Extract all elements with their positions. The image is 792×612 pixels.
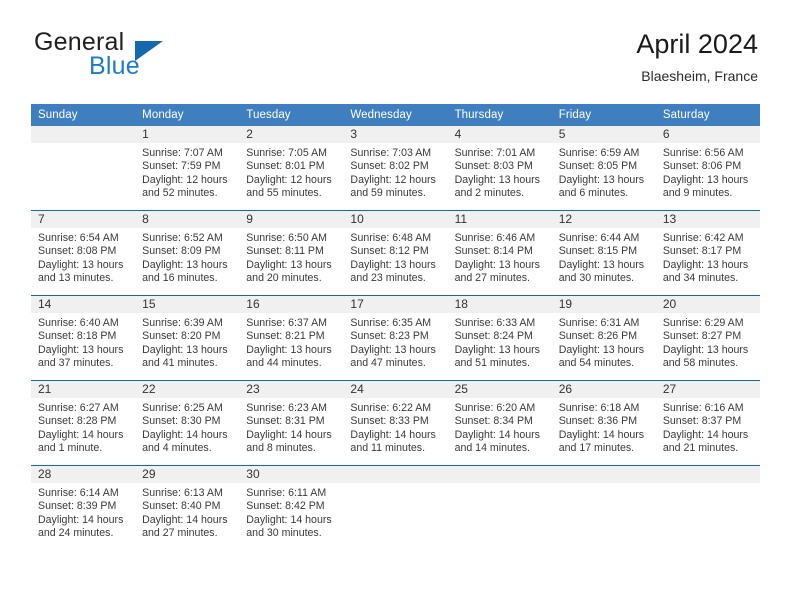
detail-sunrise: Sunrise: 6:56 AM [663, 147, 753, 160]
day-details: Sunrise: 6:39 AMSunset: 8:20 PMDaylight:… [135, 313, 239, 371]
detail-daylight-line2: and 27 minutes. [142, 527, 232, 540]
day-number: 7 [31, 211, 135, 228]
day-cell[interactable]: 4Sunrise: 7:01 AMSunset: 8:03 PMDaylight… [448, 126, 552, 211]
detail-daylight-line1: Daylight: 13 hours [455, 174, 545, 187]
day-number: 3 [343, 126, 447, 143]
detail-daylight-line1: Daylight: 13 hours [455, 344, 545, 357]
detail-daylight-line2: and 14 minutes. [455, 442, 545, 455]
detail-daylight-line1: Daylight: 13 hours [559, 344, 649, 357]
day-cell-empty [343, 466, 447, 551]
day-cell[interactable]: 9Sunrise: 6:50 AMSunset: 8:11 PMDaylight… [239, 211, 343, 296]
detail-daylight-line1: Daylight: 14 hours [38, 429, 128, 442]
day-cell[interactable]: 26Sunrise: 6:18 AMSunset: 8:36 PMDayligh… [552, 381, 656, 466]
weekday-header-tuesday: Tuesday [239, 104, 343, 126]
day-number: 29 [135, 466, 239, 483]
day-details: Sunrise: 6:11 AMSunset: 8:42 PMDaylight:… [239, 483, 343, 541]
detail-sunset: Sunset: 8:36 PM [559, 415, 649, 428]
detail-sunrise: Sunrise: 7:03 AM [350, 147, 440, 160]
detail-daylight-line1: Daylight: 13 hours [663, 174, 753, 187]
day-details: Sunrise: 6:27 AMSunset: 8:28 PMDaylight:… [31, 398, 135, 456]
detail-daylight-line2: and 20 minutes. [246, 272, 336, 285]
day-details: Sunrise: 6:29 AMSunset: 8:27 PMDaylight:… [656, 313, 760, 371]
calendar-body: 1Sunrise: 7:07 AMSunset: 7:59 PMDaylight… [31, 126, 760, 550]
day-cell[interactable]: 5Sunrise: 6:59 AMSunset: 8:05 PMDaylight… [552, 126, 656, 211]
day-cell[interactable]: 15Sunrise: 6:39 AMSunset: 8:20 PMDayligh… [135, 296, 239, 381]
detail-daylight-line1: Daylight: 14 hours [350, 429, 440, 442]
day-number [343, 466, 447, 483]
detail-daylight-line1: Daylight: 13 hours [38, 344, 128, 357]
day-details: Sunrise: 6:54 AMSunset: 8:08 PMDaylight:… [31, 228, 135, 286]
weekday-header-wednesday: Wednesday [343, 104, 447, 126]
day-details: Sunrise: 6:13 AMSunset: 8:40 PMDaylight:… [135, 483, 239, 541]
detail-sunrise: Sunrise: 6:14 AM [38, 487, 128, 500]
day-cell[interactable]: 12Sunrise: 6:44 AMSunset: 8:15 PMDayligh… [552, 211, 656, 296]
day-cell[interactable]: 13Sunrise: 6:42 AMSunset: 8:17 PMDayligh… [656, 211, 760, 296]
masthead: General Blue April 2024 Blaesheim, Franc… [34, 28, 758, 90]
detail-daylight-line2: and 21 minutes. [663, 442, 753, 455]
detail-daylight-line1: Daylight: 14 hours [455, 429, 545, 442]
day-cell[interactable]: 3Sunrise: 7:03 AMSunset: 8:02 PMDaylight… [343, 126, 447, 211]
day-number: 12 [552, 211, 656, 228]
detail-daylight-line1: Daylight: 13 hours [350, 259, 440, 272]
day-number: 16 [239, 296, 343, 313]
detail-daylight-line2: and 6 minutes. [559, 187, 649, 200]
day-number [656, 466, 760, 483]
detail-sunrise: Sunrise: 6:11 AM [246, 487, 336, 500]
detail-sunset: Sunset: 8:11 PM [246, 245, 336, 258]
detail-sunrise: Sunrise: 7:01 AM [455, 147, 545, 160]
weekday-header-friday: Friday [552, 104, 656, 126]
day-number: 19 [552, 296, 656, 313]
day-details: Sunrise: 6:22 AMSunset: 8:33 PMDaylight:… [343, 398, 447, 456]
detail-daylight-line1: Daylight: 14 hours [246, 514, 336, 527]
day-number [31, 126, 135, 143]
day-number: 27 [656, 381, 760, 398]
week-row: 28Sunrise: 6:14 AMSunset: 8:39 PMDayligh… [31, 466, 760, 551]
detail-daylight-line1: Daylight: 14 hours [663, 429, 753, 442]
day-cell[interactable]: 28Sunrise: 6:14 AMSunset: 8:39 PMDayligh… [31, 466, 135, 551]
day-number: 17 [343, 296, 447, 313]
calendar-table: Sunday Monday Tuesday Wednesday Thursday… [31, 104, 760, 550]
detail-daylight-line2: and 58 minutes. [663, 357, 753, 370]
weekday-header-thursday: Thursday [448, 104, 552, 126]
detail-sunset: Sunset: 8:42 PM [246, 500, 336, 513]
detail-sunrise: Sunrise: 6:48 AM [350, 232, 440, 245]
detail-sunset: Sunset: 8:03 PM [455, 160, 545, 173]
day-number: 11 [448, 211, 552, 228]
day-cell[interactable]: 27Sunrise: 6:16 AMSunset: 8:37 PMDayligh… [656, 381, 760, 466]
detail-daylight-line2: and 30 minutes. [246, 527, 336, 540]
weekday-header-saturday: Saturday [656, 104, 760, 126]
detail-daylight-line2: and 30 minutes. [559, 272, 649, 285]
detail-sunset: Sunset: 8:40 PM [142, 500, 232, 513]
day-details: Sunrise: 6:31 AMSunset: 8:26 PMDaylight:… [552, 313, 656, 371]
day-cell[interactable]: 14Sunrise: 6:40 AMSunset: 8:18 PMDayligh… [31, 296, 135, 381]
detail-sunrise: Sunrise: 6:25 AM [142, 402, 232, 415]
detail-daylight-line1: Daylight: 13 hours [246, 259, 336, 272]
day-number: 25 [448, 381, 552, 398]
detail-daylight-line1: Daylight: 14 hours [142, 514, 232, 527]
detail-sunset: Sunset: 8:06 PM [663, 160, 753, 173]
detail-daylight-line2: and 52 minutes. [142, 187, 232, 200]
detail-sunset: Sunset: 8:28 PM [38, 415, 128, 428]
detail-sunrise: Sunrise: 7:07 AM [142, 147, 232, 160]
detail-sunrise: Sunrise: 6:44 AM [559, 232, 649, 245]
page-subtitle: Blaesheim, France [636, 66, 758, 86]
detail-daylight-line1: Daylight: 13 hours [38, 259, 128, 272]
day-details: Sunrise: 7:01 AMSunset: 8:03 PMDaylight:… [448, 143, 552, 201]
detail-daylight-line1: Daylight: 13 hours [350, 344, 440, 357]
detail-daylight-line1: Daylight: 13 hours [559, 259, 649, 272]
brand-logo[interactable]: General Blue [34, 28, 264, 86]
day-number: 8 [135, 211, 239, 228]
detail-sunrise: Sunrise: 6:42 AM [663, 232, 753, 245]
detail-daylight-line1: Daylight: 13 hours [559, 174, 649, 187]
day-cell[interactable]: 16Sunrise: 6:37 AMSunset: 8:21 PMDayligh… [239, 296, 343, 381]
detail-daylight-line2: and 24 minutes. [38, 527, 128, 540]
day-cell[interactable]: 10Sunrise: 6:48 AMSunset: 8:12 PMDayligh… [343, 211, 447, 296]
detail-daylight-line1: Daylight: 14 hours [559, 429, 649, 442]
detail-daylight-line1: Daylight: 12 hours [246, 174, 336, 187]
detail-sunrise: Sunrise: 6:22 AM [350, 402, 440, 415]
detail-sunrise: Sunrise: 6:39 AM [142, 317, 232, 330]
day-number: 10 [343, 211, 447, 228]
detail-sunrise: Sunrise: 6:46 AM [455, 232, 545, 245]
day-cell[interactable]: 1Sunrise: 7:07 AMSunset: 7:59 PMDaylight… [135, 126, 239, 211]
calendar-header-row: Sunday Monday Tuesday Wednesday Thursday… [31, 104, 760, 126]
detail-daylight-line2: and 41 minutes. [142, 357, 232, 370]
detail-daylight-line2: and 16 minutes. [142, 272, 232, 285]
detail-sunset: Sunset: 8:30 PM [142, 415, 232, 428]
detail-daylight-line1: Daylight: 13 hours [663, 259, 753, 272]
day-number: 2 [239, 126, 343, 143]
detail-sunrise: Sunrise: 6:20 AM [455, 402, 545, 415]
detail-daylight-line2: and 8 minutes. [246, 442, 336, 455]
detail-sunset: Sunset: 8:37 PM [663, 415, 753, 428]
week-row: 1Sunrise: 7:07 AMSunset: 7:59 PMDaylight… [31, 126, 760, 211]
detail-sunrise: Sunrise: 6:35 AM [350, 317, 440, 330]
day-cell-empty [552, 466, 656, 551]
day-cell[interactable]: 7Sunrise: 6:54 AMSunset: 8:08 PMDaylight… [31, 211, 135, 296]
detail-sunrise: Sunrise: 6:13 AM [142, 487, 232, 500]
detail-sunset: Sunset: 8:12 PM [350, 245, 440, 258]
day-details: Sunrise: 6:40 AMSunset: 8:18 PMDaylight:… [31, 313, 135, 371]
detail-daylight-line2: and 37 minutes. [38, 357, 128, 370]
day-details: Sunrise: 6:35 AMSunset: 8:23 PMDaylight:… [343, 313, 447, 371]
detail-daylight-line2: and 4 minutes. [142, 442, 232, 455]
detail-daylight-line1: Daylight: 14 hours [38, 514, 128, 527]
weekday-header-monday: Monday [135, 104, 239, 126]
day-number: 24 [343, 381, 447, 398]
detail-sunrise: Sunrise: 6:50 AM [246, 232, 336, 245]
day-details: Sunrise: 6:56 AMSunset: 8:06 PMDaylight:… [656, 143, 760, 201]
title-block: April 2024 Blaesheim, France [636, 28, 758, 86]
day-details: Sunrise: 6:50 AMSunset: 8:11 PMDaylight:… [239, 228, 343, 286]
week-row: 14Sunrise: 6:40 AMSunset: 8:18 PMDayligh… [31, 296, 760, 381]
day-number [448, 466, 552, 483]
day-details: Sunrise: 6:42 AMSunset: 8:17 PMDaylight:… [656, 228, 760, 286]
day-cell[interactable]: 24Sunrise: 6:22 AMSunset: 8:33 PMDayligh… [343, 381, 447, 466]
detail-sunset: Sunset: 8:39 PM [38, 500, 128, 513]
day-details: Sunrise: 7:07 AMSunset: 7:59 PMDaylight:… [135, 143, 239, 201]
day-number: 14 [31, 296, 135, 313]
day-cell[interactable]: 17Sunrise: 6:35 AMSunset: 8:23 PMDayligh… [343, 296, 447, 381]
detail-daylight-line2: and 55 minutes. [246, 187, 336, 200]
day-cell[interactable]: 25Sunrise: 6:20 AMSunset: 8:34 PMDayligh… [448, 381, 552, 466]
day-details: Sunrise: 7:03 AMSunset: 8:02 PMDaylight:… [343, 143, 447, 201]
detail-sunrise: Sunrise: 6:40 AM [38, 317, 128, 330]
day-number: 22 [135, 381, 239, 398]
day-cell[interactable]: 18Sunrise: 6:33 AMSunset: 8:24 PMDayligh… [448, 296, 552, 381]
day-number: 21 [31, 381, 135, 398]
detail-sunset: Sunset: 8:09 PM [142, 245, 232, 258]
day-cell[interactable]: 23Sunrise: 6:23 AMSunset: 8:31 PMDayligh… [239, 381, 343, 466]
day-number [552, 466, 656, 483]
detail-sunrise: Sunrise: 6:54 AM [38, 232, 128, 245]
detail-sunset: Sunset: 8:14 PM [455, 245, 545, 258]
detail-sunset: Sunset: 7:59 PM [142, 160, 232, 173]
day-number: 28 [31, 466, 135, 483]
detail-daylight-line1: Daylight: 13 hours [663, 344, 753, 357]
detail-sunset: Sunset: 8:26 PM [559, 330, 649, 343]
day-details: Sunrise: 6:59 AMSunset: 8:05 PMDaylight:… [552, 143, 656, 201]
detail-sunset: Sunset: 8:17 PM [663, 245, 753, 258]
day-number: 4 [448, 126, 552, 143]
day-number: 26 [552, 381, 656, 398]
detail-daylight-line2: and 34 minutes. [663, 272, 753, 285]
day-cell[interactable]: 11Sunrise: 6:46 AMSunset: 8:14 PMDayligh… [448, 211, 552, 296]
day-details: Sunrise: 6:16 AMSunset: 8:37 PMDaylight:… [656, 398, 760, 456]
detail-sunset: Sunset: 8:01 PM [246, 160, 336, 173]
detail-sunrise: Sunrise: 6:27 AM [38, 402, 128, 415]
detail-daylight-line1: Daylight: 14 hours [142, 429, 232, 442]
detail-sunset: Sunset: 8:15 PM [559, 245, 649, 258]
day-details: Sunrise: 7:05 AMSunset: 8:01 PMDaylight:… [239, 143, 343, 201]
day-number: 30 [239, 466, 343, 483]
day-details: Sunrise: 6:52 AMSunset: 8:09 PMDaylight:… [135, 228, 239, 286]
day-cell-empty [656, 466, 760, 551]
day-cell[interactable]: 20Sunrise: 6:29 AMSunset: 8:27 PMDayligh… [656, 296, 760, 381]
detail-sunrise: Sunrise: 6:52 AM [142, 232, 232, 245]
day-cell[interactable]: 22Sunrise: 6:25 AMSunset: 8:30 PMDayligh… [135, 381, 239, 466]
detail-sunrise: Sunrise: 6:23 AM [246, 402, 336, 415]
detail-sunset: Sunset: 8:31 PM [246, 415, 336, 428]
week-row: 7Sunrise: 6:54 AMSunset: 8:08 PMDaylight… [31, 211, 760, 296]
detail-sunset: Sunset: 8:02 PM [350, 160, 440, 173]
day-cell[interactable]: 19Sunrise: 6:31 AMSunset: 8:26 PMDayligh… [552, 296, 656, 381]
day-cell-empty [31, 126, 135, 211]
detail-daylight-line2: and 59 minutes. [350, 187, 440, 200]
day-number: 9 [239, 211, 343, 228]
detail-daylight-line2: and 47 minutes. [350, 357, 440, 370]
detail-sunset: Sunset: 8:33 PM [350, 415, 440, 428]
day-number: 6 [656, 126, 760, 143]
detail-daylight-line1: Daylight: 14 hours [246, 429, 336, 442]
detail-sunset: Sunset: 8:24 PM [455, 330, 545, 343]
detail-daylight-line2: and 27 minutes. [455, 272, 545, 285]
detail-daylight-line2: and 9 minutes. [663, 187, 753, 200]
detail-daylight-line1: Daylight: 12 hours [350, 174, 440, 187]
detail-sunset: Sunset: 8:20 PM [142, 330, 232, 343]
detail-daylight-line1: Daylight: 13 hours [246, 344, 336, 357]
day-number: 1 [135, 126, 239, 143]
weekday-header-sunday: Sunday [31, 104, 135, 126]
detail-daylight-line2: and 13 minutes. [38, 272, 128, 285]
detail-sunrise: Sunrise: 6:37 AM [246, 317, 336, 330]
day-details: Sunrise: 6:20 AMSunset: 8:34 PMDaylight:… [448, 398, 552, 456]
day-cell[interactable]: 6Sunrise: 6:56 AMSunset: 8:06 PMDaylight… [656, 126, 760, 211]
detail-daylight-line2: and 44 minutes. [246, 357, 336, 370]
day-details: Sunrise: 6:18 AMSunset: 8:36 PMDaylight:… [552, 398, 656, 456]
day-cell-empty [448, 466, 552, 551]
detail-sunset: Sunset: 8:08 PM [38, 245, 128, 258]
day-cell[interactable]: 30Sunrise: 6:11 AMSunset: 8:42 PMDayligh… [239, 466, 343, 551]
day-details: Sunrise: 6:33 AMSunset: 8:24 PMDaylight:… [448, 313, 552, 371]
detail-sunrise: Sunrise: 6:33 AM [455, 317, 545, 330]
day-number: 15 [135, 296, 239, 313]
detail-sunset: Sunset: 8:34 PM [455, 415, 545, 428]
day-number: 5 [552, 126, 656, 143]
day-details: Sunrise: 6:48 AMSunset: 8:12 PMDaylight:… [343, 228, 447, 286]
day-cell[interactable]: 21Sunrise: 6:27 AMSunset: 8:28 PMDayligh… [31, 381, 135, 466]
page-title: April 2024 [636, 28, 758, 60]
day-cell[interactable]: 8Sunrise: 6:52 AMSunset: 8:09 PMDaylight… [135, 211, 239, 296]
detail-sunrise: Sunrise: 6:16 AM [663, 402, 753, 415]
detail-sunset: Sunset: 8:23 PM [350, 330, 440, 343]
detail-daylight-line2: and 54 minutes. [559, 357, 649, 370]
detail-daylight-line1: Daylight: 13 hours [142, 259, 232, 272]
brand-name-blue: Blue [89, 52, 140, 81]
detail-sunset: Sunset: 8:27 PM [663, 330, 753, 343]
day-details: Sunrise: 6:23 AMSunset: 8:31 PMDaylight:… [239, 398, 343, 456]
day-details: Sunrise: 6:14 AMSunset: 8:39 PMDaylight:… [31, 483, 135, 541]
day-details: Sunrise: 6:44 AMSunset: 8:15 PMDaylight:… [552, 228, 656, 286]
detail-sunrise: Sunrise: 6:29 AM [663, 317, 753, 330]
detail-sunrise: Sunrise: 6:59 AM [559, 147, 649, 160]
detail-sunset: Sunset: 8:21 PM [246, 330, 336, 343]
detail-sunrise: Sunrise: 7:05 AM [246, 147, 336, 160]
week-row: 21Sunrise: 6:27 AMSunset: 8:28 PMDayligh… [31, 381, 760, 466]
detail-daylight-line1: Daylight: 12 hours [142, 174, 232, 187]
day-number: 23 [239, 381, 343, 398]
day-details: Sunrise: 6:25 AMSunset: 8:30 PMDaylight:… [135, 398, 239, 456]
day-details: Sunrise: 6:37 AMSunset: 8:21 PMDaylight:… [239, 313, 343, 371]
detail-sunrise: Sunrise: 6:18 AM [559, 402, 649, 415]
detail-daylight-line2: and 1 minute. [38, 442, 128, 455]
detail-sunset: Sunset: 8:05 PM [559, 160, 649, 173]
day-number: 20 [656, 296, 760, 313]
day-number: 18 [448, 296, 552, 313]
detail-daylight-line2: and 23 minutes. [350, 272, 440, 285]
detail-daylight-line2: and 2 minutes. [455, 187, 545, 200]
detail-daylight-line1: Daylight: 13 hours [142, 344, 232, 357]
day-cell[interactable]: 2Sunrise: 7:05 AMSunset: 8:01 PMDaylight… [239, 126, 343, 211]
detail-sunset: Sunset: 8:18 PM [38, 330, 128, 343]
detail-sunrise: Sunrise: 6:31 AM [559, 317, 649, 330]
calendar-page: General Blue April 2024 Blaesheim, Franc… [0, 0, 792, 612]
day-number: 13 [656, 211, 760, 228]
day-details: Sunrise: 6:46 AMSunset: 8:14 PMDaylight:… [448, 228, 552, 286]
detail-daylight-line2: and 17 minutes. [559, 442, 649, 455]
detail-daylight-line2: and 11 minutes. [350, 442, 440, 455]
detail-daylight-line1: Daylight: 13 hours [455, 259, 545, 272]
day-cell[interactable]: 29Sunrise: 6:13 AMSunset: 8:40 PMDayligh… [135, 466, 239, 551]
detail-daylight-line2: and 51 minutes. [455, 357, 545, 370]
